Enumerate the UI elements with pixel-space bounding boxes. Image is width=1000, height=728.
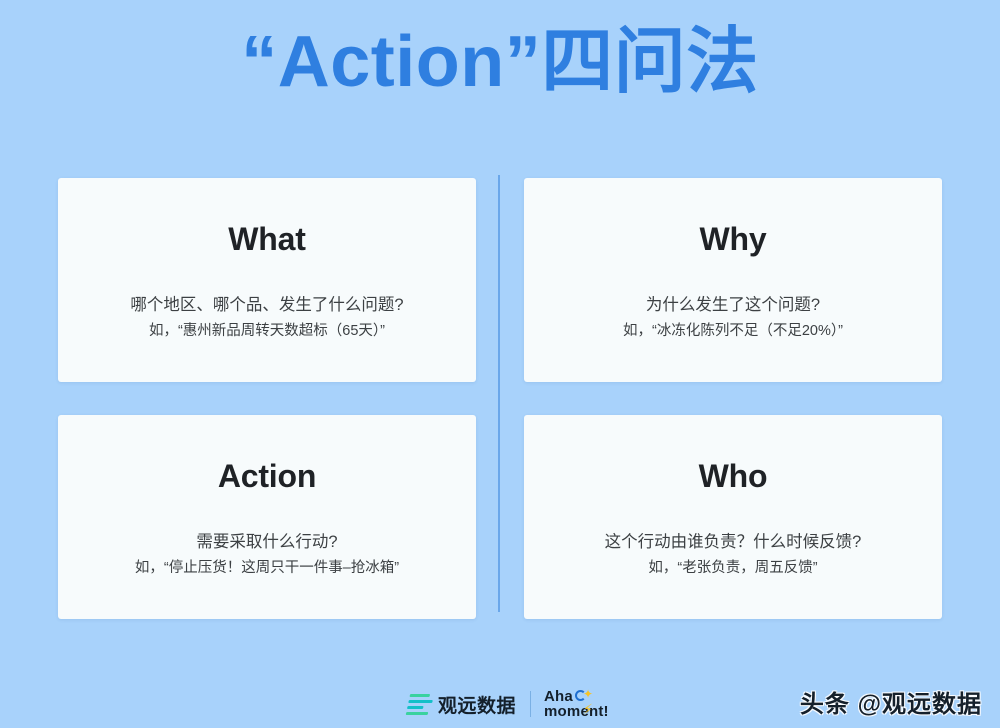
card-heading: Who	[524, 459, 942, 494]
card-action: Action 需要采取什么行动? 如，“停止压货！这周只干一件事–抢冰箱”	[58, 415, 476, 619]
footer-brand: 观远数据 Aha ✦ moment! ⚡	[408, 686, 609, 722]
company-name: 观远数据	[438, 691, 516, 718]
card-what: What 哪个地区、哪个品、发生了什么问题? 如，“惠州新品周转天数超标（65天…	[58, 178, 476, 382]
card-example: 如，“冰冻化陈列不足（不足20%）”	[524, 322, 942, 340]
aha-text: Aha	[544, 689, 573, 704]
card-question: 需要采取什么行动?	[58, 532, 476, 553]
lightning-bolt-icon: ⚡	[583, 702, 593, 716]
aha-moment-logo: Aha ✦ moment! ⚡	[544, 689, 609, 720]
aha-logo-line1: Aha ✦	[544, 689, 609, 704]
card-heading: Action	[58, 459, 476, 494]
aha-logo-line2: moment! ⚡	[544, 703, 609, 720]
card-example: 如，“惠州新品周转天数超标（65天）”	[58, 322, 476, 340]
vertical-divider	[498, 175, 500, 612]
card-who: Who 这个行动由谁负责？什么时候反馈? 如，“老张负责，周五反馈”	[524, 415, 942, 619]
card-question: 哪个地区、哪个品、发生了什么问题?	[58, 295, 476, 316]
card-heading: What	[58, 222, 476, 257]
card-heading: Why	[524, 222, 942, 257]
brand-separator	[530, 691, 531, 717]
page-title: “Action”四问法	[0, 26, 1000, 98]
bar-chart-logo-icon	[406, 693, 435, 715]
card-grid: What 哪个地区、哪个品、发生了什么问题? 如，“惠州新品周转天数超标（65天…	[58, 178, 942, 618]
moment-text: moment!	[544, 703, 609, 720]
attribution-handle: 头条 @观远数据	[800, 684, 982, 719]
card-question: 这个行动由谁负责？什么时候反馈?	[524, 532, 942, 553]
card-example: 如，“老张负责，周五反馈”	[524, 559, 942, 577]
card-why: Why 为什么发生了这个问题? 如，“冰冻化陈列不足（不足20%）”	[524, 178, 942, 382]
card-question: 为什么发生了这个问题?	[524, 295, 942, 316]
card-example: 如，“停止压货！这周只干一件事–抢冰箱”	[58, 559, 476, 577]
